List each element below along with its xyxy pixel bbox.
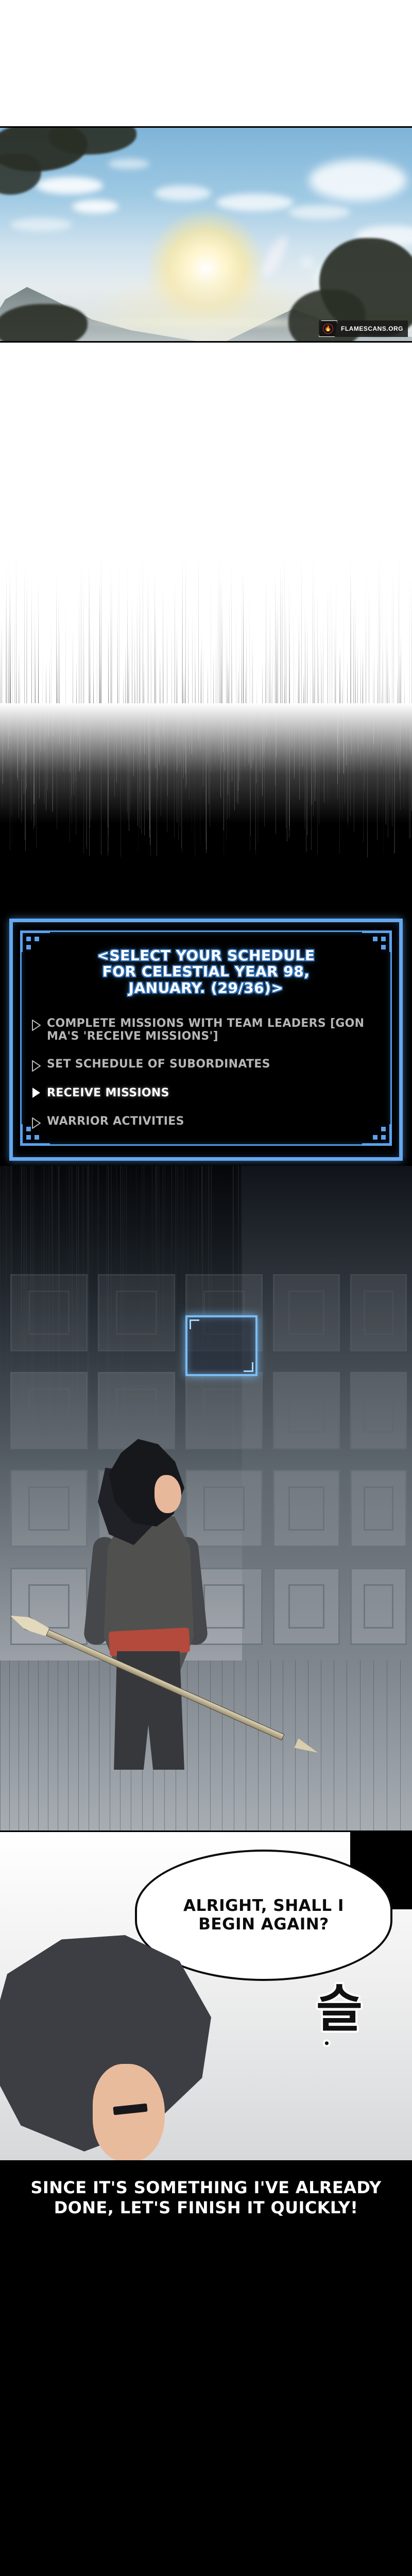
- watermark-label: FLAMESCANS.ORG: [337, 325, 408, 332]
- sfx-swish-main: 슬: [316, 1980, 363, 2039]
- lattice-cell: [273, 1568, 340, 1645]
- panel-corridor: [0, 1166, 412, 1831]
- hero-character-back-view: [77, 1439, 211, 1769]
- speedlines-white: [0, 549, 412, 703]
- hero-closeup-head: [0, 1935, 221, 2160]
- corner-ornament-top-left: [20, 930, 50, 952]
- lattice-cell: [350, 1470, 407, 1547]
- cloud: [10, 218, 72, 231]
- menu-item-label: COMPLETE MISSIONS WITH TEAM LEADERS [GON…: [47, 1018, 382, 1043]
- lattice-cell: [273, 1372, 340, 1449]
- menu-item-receive-missions[interactable]: RECEIVE MISSIONS: [30, 1087, 382, 1100]
- panel-sunrise-landscape: 🔥 FLAMESCANS.ORG: [0, 126, 412, 343]
- cloud: [72, 200, 118, 213]
- flame-icon: 🔥: [319, 320, 337, 337]
- foliage: [49, 126, 136, 155]
- panel-caption: SINCE IT'S SOMETHING I'VE ALREADY DONE, …: [0, 2160, 412, 2330]
- webtoon-page: 🔥 FLAMESCANS.ORG 디 링: [0, 0, 412, 2330]
- lattice-cell: [10, 1470, 88, 1547]
- menu-item-warrior-activities[interactable]: WARRIOR ACTIVITIES: [30, 1115, 382, 1129]
- sfx-swish: 슬 ㆍ: [316, 1987, 363, 2055]
- system-window-inner: <SELECT YOUR SCHEDULE FOR CELESTIAL YEAR…: [20, 930, 392, 1146]
- lattice-cell: [350, 1372, 407, 1449]
- lattice-cell: [273, 1274, 340, 1351]
- lattice-cell: [10, 1274, 88, 1351]
- lattice-cell: [350, 1274, 407, 1351]
- title-line: JANUARY. (29/36)>: [33, 980, 379, 996]
- system-window[interactable]: <SELECT YOUR SCHEDULE FOR CELESTIAL YEAR…: [9, 919, 403, 1161]
- menu-item-complete-missions[interactable]: COMPLETE MISSIONS WITH TEAM LEADERS [GON…: [30, 1018, 382, 1043]
- triangle-outline-icon: [32, 1020, 41, 1031]
- hero-face: [154, 1475, 181, 1513]
- foliage: [0, 154, 41, 195]
- lattice-cell: [185, 1372, 263, 1449]
- cloud: [154, 185, 211, 201]
- title-line: FOR CELESTIAL YEAR 98,: [33, 963, 379, 979]
- lattice-cell: [273, 1470, 340, 1547]
- panel-dialogue-closeup: ALRIGHT, SHALL I BEGIN AGAIN? 슬 ㆍ: [0, 1831, 412, 2160]
- flame-glyph: 🔥: [324, 326, 332, 332]
- speedlines-black: [0, 703, 412, 858]
- lattice-cell: [98, 1372, 175, 1449]
- lattice-cell: [350, 1568, 407, 1645]
- flame-ring: 🔥: [323, 324, 333, 334]
- top-gutter: [0, 0, 412, 126]
- panel-system-window: 디 링 <SELECT YOUR SCHEDULE FOR CELEST: [0, 919, 412, 1166]
- menu-item-set-schedule-of-subordinates[interactable]: SET SCHEDULE OF SUBORDINATES: [30, 1058, 382, 1072]
- cloud: [216, 194, 294, 211]
- cloud: [288, 205, 350, 219]
- menu-item-label: WARRIOR ACTIVITIES: [47, 1115, 382, 1128]
- foliage: [0, 304, 88, 343]
- white-gutter: [0, 343, 412, 549]
- menu-item-label: SET SCHEDULE OF SUBORDINATES: [47, 1058, 382, 1071]
- corner-ornament-top-right: [362, 930, 392, 952]
- cloud: [309, 160, 407, 201]
- triangle-solid-icon: [32, 1087, 41, 1098]
- lens-flare: [301, 257, 313, 268]
- title-line: <SELECT YOUR SCHEDULE: [33, 947, 379, 963]
- speech-bubble-text: ALRIGHT, SHALL I BEGIN AGAIN?: [137, 1896, 390, 1934]
- system-window-title: <SELECT YOUR SCHEDULE FOR CELESTIAL YEAR…: [30, 947, 382, 996]
- lattice-cell: [10, 1372, 88, 1449]
- glowing-panel[interactable]: [185, 1315, 257, 1376]
- corner-ornament-bottom-right: [362, 1124, 392, 1146]
- cloud: [108, 159, 149, 169]
- cloud: [36, 177, 103, 194]
- caption-text: SINCE IT'S SOMETHING I'VE ALREADY DONE, …: [26, 2178, 386, 2218]
- menu-item-label: RECEIVE MISSIONS: [47, 1087, 382, 1100]
- lattice-cell: [98, 1274, 175, 1351]
- triangle-outline-icon: [32, 1060, 41, 1072]
- corner-ornament-bottom-left: [20, 1124, 50, 1146]
- system-menu-list: COMPLETE MISSIONS WITH TEAM LEADERS [GON…: [30, 1018, 382, 1129]
- watermark-badge: 🔥 FLAMESCANS.ORG: [319, 320, 408, 337]
